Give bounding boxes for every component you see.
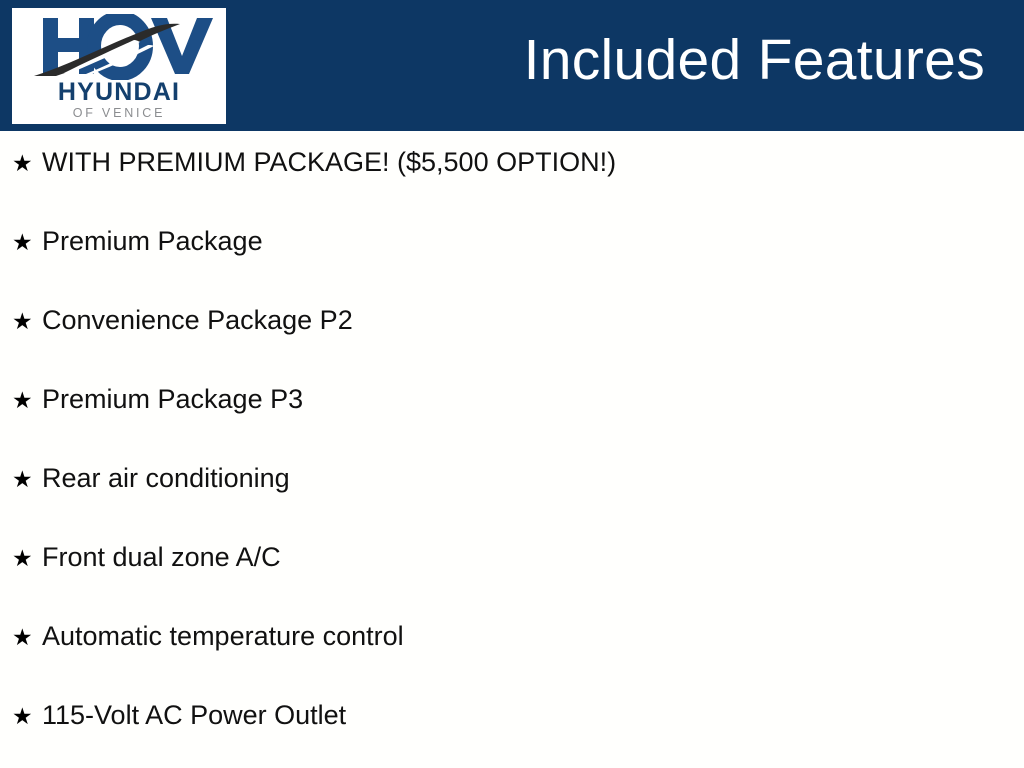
feature-item-label: 115-Volt AC Power Outlet [42, 702, 346, 729]
feature-item: ★WITH PREMIUM PACKAGE! ($5,500 OPTION!) [0, 149, 1024, 228]
hov-logo-icon [12, 14, 226, 80]
feature-item: ★Automatic temperature control [0, 623, 1024, 702]
feature-item-label: Rear air conditioning [42, 465, 290, 492]
feature-item-label: Front dual zone A/C [42, 544, 281, 571]
star-bullet-icon: ★ [12, 627, 42, 650]
star-bullet-icon: ★ [12, 390, 42, 413]
slide-root: HYUNDAI OF VENICE Included Features ★WIT… [0, 0, 1024, 768]
of-venice-text: OF VENICE [12, 107, 226, 120]
feature-item-label: Premium Package P3 [42, 386, 303, 413]
star-bullet-icon: ★ [12, 469, 42, 492]
feature-item: ★115-Volt AC Power Outlet [0, 702, 1024, 768]
star-bullet-icon: ★ [12, 311, 42, 334]
star-bullet-icon: ★ [12, 548, 42, 571]
feature-item: ★Premium Package P3 [0, 386, 1024, 465]
star-bullet-icon: ★ [12, 153, 42, 176]
slide-header: HYUNDAI OF VENICE Included Features [0, 0, 1024, 131]
dealer-logo: HYUNDAI OF VENICE [12, 8, 226, 124]
hyundai-brand-text: HYUNDAI [12, 80, 226, 105]
feature-item: ★Rear air conditioning [0, 465, 1024, 544]
feature-item-label: Automatic temperature control [42, 623, 404, 650]
feature-item-label: WITH PREMIUM PACKAGE! ($5,500 OPTION!) [42, 149, 616, 176]
features-list: ★WITH PREMIUM PACKAGE! ($5,500 OPTION!)★… [0, 131, 1024, 768]
feature-item: ★Premium Package [0, 228, 1024, 307]
feature-item: ★Convenience Package P2 [0, 307, 1024, 386]
page-title: Included Features [524, 29, 985, 92]
feature-item-label: Premium Package [42, 228, 263, 255]
feature-item-label: Convenience Package P2 [42, 307, 353, 334]
hov-wordmark [12, 14, 226, 80]
star-bullet-icon: ★ [12, 232, 42, 255]
star-bullet-icon: ★ [12, 706, 42, 729]
feature-item: ★Front dual zone A/C [0, 544, 1024, 623]
